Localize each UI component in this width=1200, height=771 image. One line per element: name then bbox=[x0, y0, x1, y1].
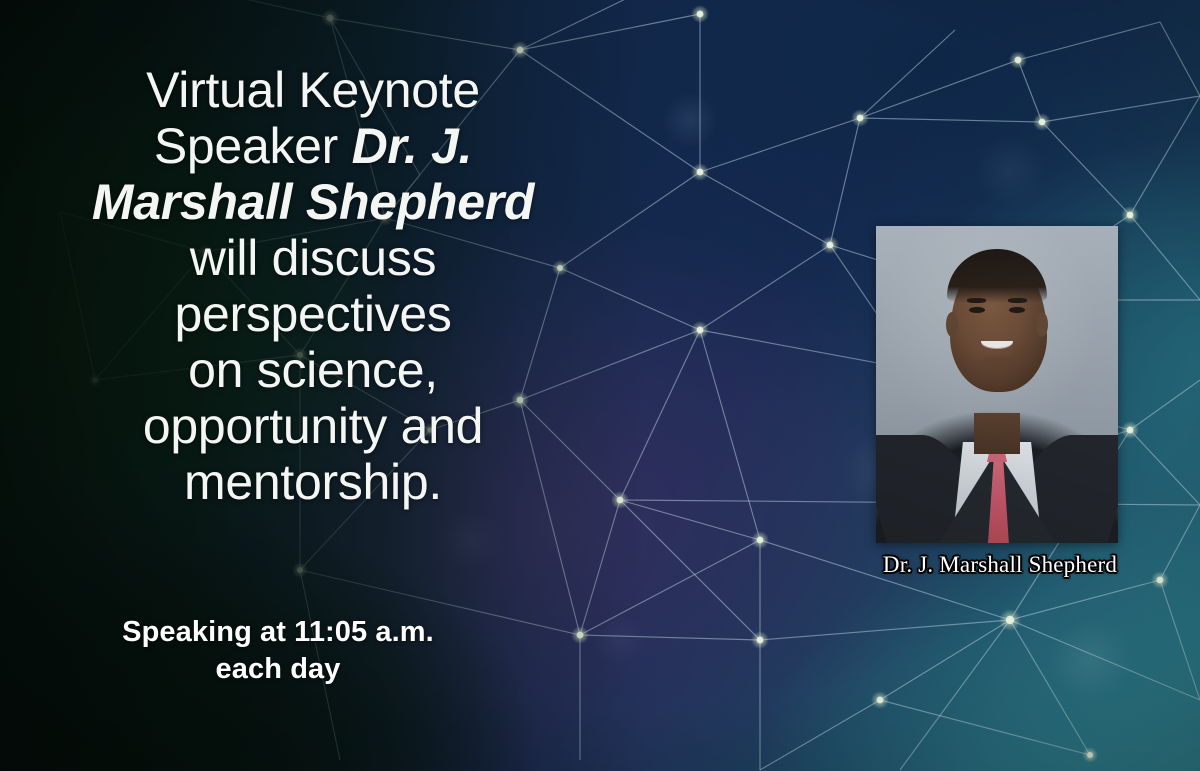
headline-speaker-name-part-2: Marshall Shepherd bbox=[92, 174, 534, 230]
keynote-speaker-poster: Virtual Keynote Speaker Dr. J. Marshall … bbox=[0, 0, 1200, 771]
headline-line-8: mentorship. bbox=[184, 454, 442, 510]
speaker-portrait-photo bbox=[876, 226, 1118, 543]
headline-line-7: opportunity and bbox=[143, 398, 483, 454]
headline-line-5: perspectives bbox=[174, 286, 451, 342]
schedule-note: Speaking at 11:05 a.m. each day bbox=[48, 614, 508, 687]
portrait-color-grade bbox=[876, 226, 1118, 543]
schedule-frequency-line: each day bbox=[216, 653, 341, 685]
schedule-time-line: Speaking at 11:05 a.m. bbox=[122, 616, 434, 648]
headline-speaker-name-part-1: Dr. J. bbox=[352, 118, 473, 174]
portrait-caption: Dr. J. Marshall Shepherd bbox=[876, 552, 1124, 578]
headline-line-1: Virtual Keynote bbox=[146, 62, 480, 118]
page-title: Virtual Keynote Speaker Dr. J. Marshall … bbox=[48, 62, 578, 510]
headline-line-4: will discuss bbox=[190, 230, 436, 286]
headline-line-6: on science, bbox=[188, 342, 438, 398]
headline-line-2-prefix: Speaker bbox=[154, 118, 352, 174]
